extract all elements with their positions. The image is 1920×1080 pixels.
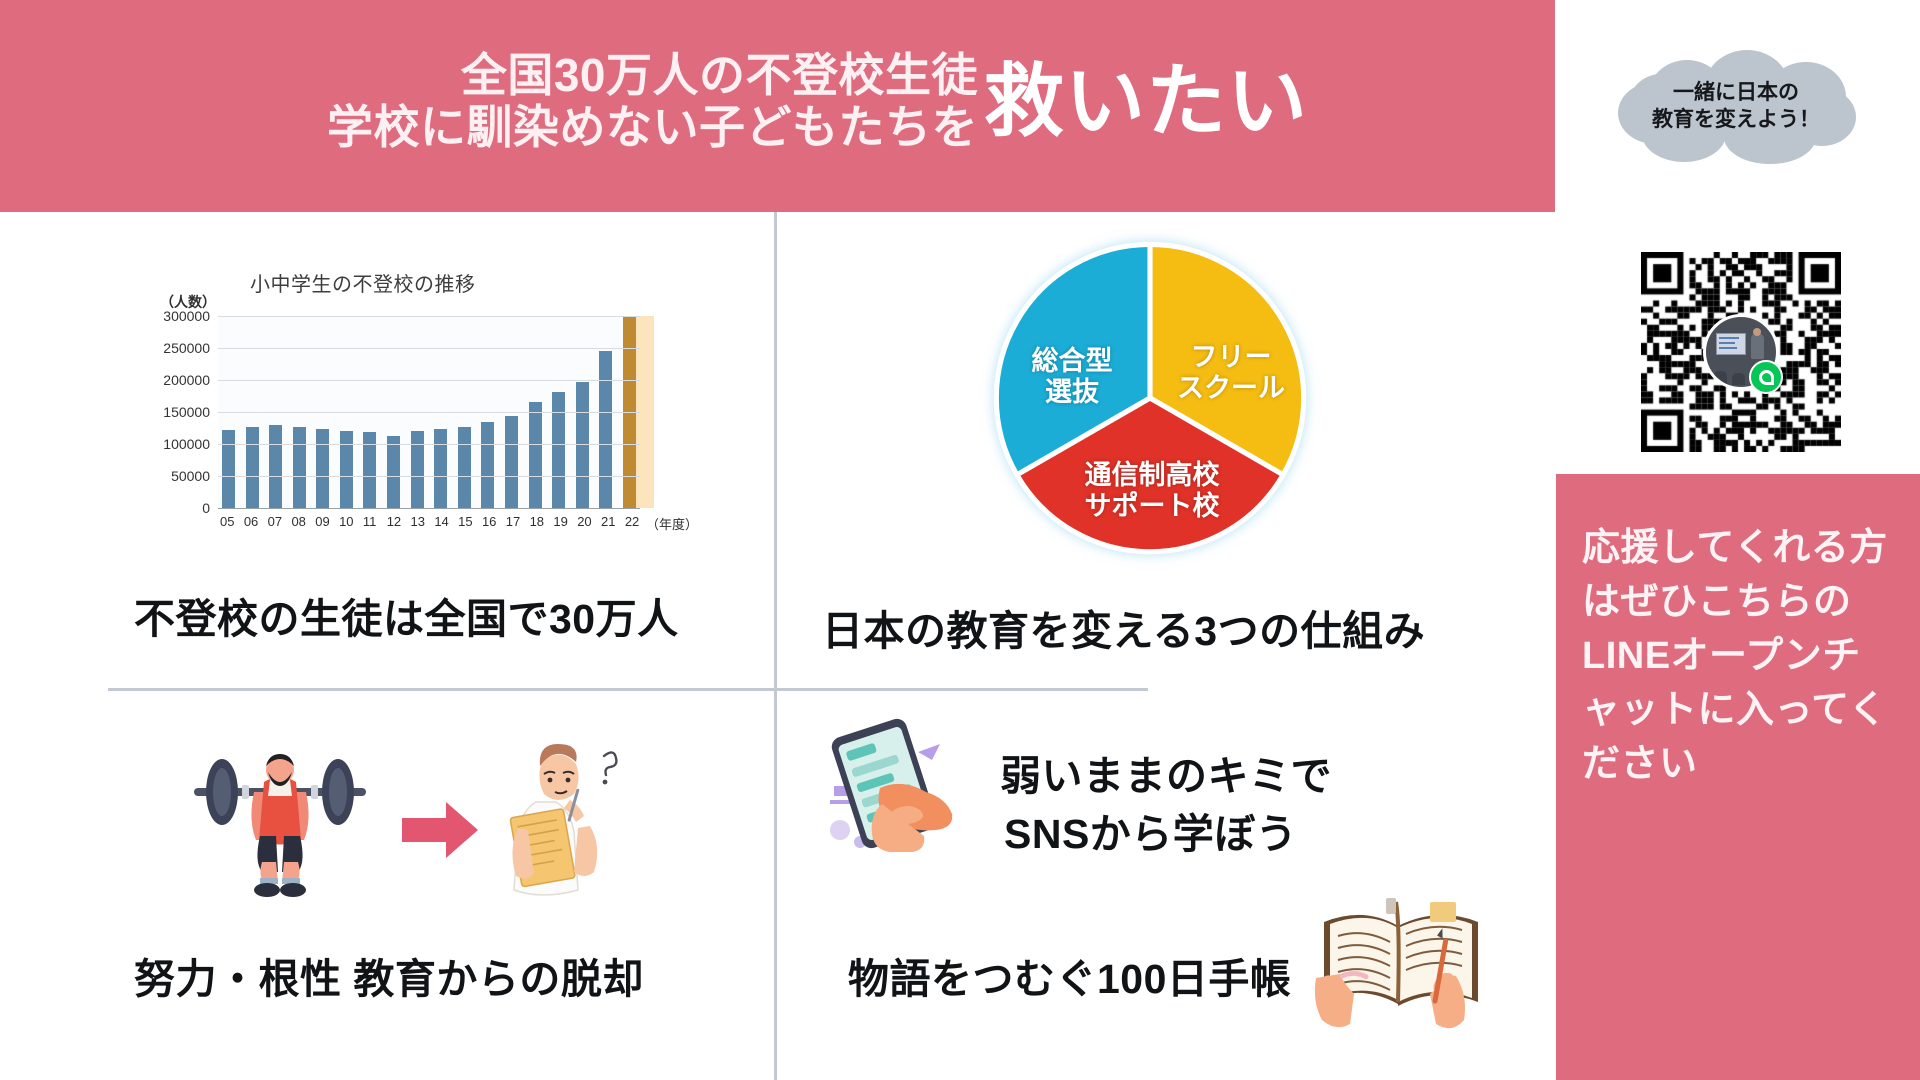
chart-x-axis [218,508,640,509]
chart-y-tick: 150000 [163,404,210,420]
chart-bar [505,416,518,508]
chart-bar [599,351,612,508]
chart-x-tick: 07 [268,514,281,529]
chart-x-unit: （年度） [646,514,698,533]
chart-gridline [218,412,640,413]
caption-sns-line-1: 弱いままのキミで [1000,742,1332,802]
chart-x-tick: 19 [553,514,566,529]
caption-three-systems: 日本の教育を変える3つの仕組み [822,597,1425,657]
chart-y-tick: 0 [202,500,210,516]
chart-x-tick: 13 [411,514,424,529]
chart-bar [458,427,471,508]
chart-x-tick: 20 [577,514,590,529]
line-invite-sidebar: 応援してくれる方はぜひこちらのLINEオープンチャットに入ってください [1556,474,1920,1080]
cloud-callout: 一緒に日本の 教育を変えよう！ [1612,48,1860,166]
line-qr-code[interactable] [1641,252,1841,452]
chart-x-tick: 11 [363,514,376,529]
chart-y-tick: 200000 [163,372,210,388]
pie-label-correspondence: 通信制高校サポート校 [1052,460,1252,522]
header-line-2: 学校に馴染めない子どもたちを [327,102,978,154]
chart-bar [246,427,259,508]
chart-bar [316,429,329,508]
pie-label-comprehensive: 総合型選抜 [1012,346,1132,408]
header-text-block: 全国30万人の不登校生徒 学校に馴染めない子どもたちを [327,50,978,153]
chart-bar [552,392,565,508]
cloud-line-2: 教育を変えよう！ [1652,107,1820,134]
weightlifter-illustration [180,740,380,900]
chart-y-tick: 50000 [171,468,210,484]
chart-x-tick: 12 [387,514,400,529]
chart-x-tick: 10 [339,514,352,529]
chart-y-tick: 100000 [163,436,210,452]
chart-bar [293,427,306,508]
chart-title: 小中学生の不登校の推移 [250,268,476,297]
chart-bar [340,431,353,508]
chart-x-tick: 09 [315,514,328,529]
line-logo-badge [1749,360,1783,394]
chart-gridline [218,444,640,445]
cloud-line-1: 一緒に日本の [1673,80,1799,107]
sidebar-text: 応援してくれる方はぜひこちらのLINEオープンチャットに入ってください [1582,522,1894,792]
chart-x-tick: 16 [482,514,495,529]
chart-plot-area: 050000100000150000200000250000300000 [218,316,640,508]
horizontal-divider [108,688,1148,691]
caption-sns-line-2: SNSから学ぼう [1004,800,1297,860]
chart-gridline [218,316,640,317]
pie-label-freeschool: フリースクール [1166,342,1296,404]
smartphone-sns-illustration [822,718,982,858]
chart-y-tick: 250000 [163,340,210,356]
header-line-1: 全国30万人の不登校生徒 [461,50,978,102]
caption-truancy: 不登校の生徒は全国で30万人 [134,585,679,645]
chart-x-tick: 14 [434,514,447,529]
chart-gridline [218,348,640,349]
thinking-person-illustration [500,740,630,905]
header-emphasis: 救いたい [984,62,1308,142]
chart-bar [269,425,282,508]
chart-bar [222,430,235,508]
chart-bar [529,402,542,508]
chart-x-tick: 06 [244,514,257,529]
chart-x-tick: 21 [601,514,614,529]
chart-bar [434,429,447,508]
chart-x-tick: 18 [530,514,543,529]
chart-x-tick: 15 [458,514,471,529]
chart-x-tick-labels: 050607080910111213141516171819202122 [218,514,640,529]
three-systems-pie-chart: 総合型選抜 フリースクール 通信制高校サポート校 [990,238,1310,558]
chart-bar [411,431,424,508]
chart-y-tick: 300000 [163,308,210,324]
chart-x-tick: 05 [220,514,233,529]
chart-bar [387,436,400,508]
chart-x-tick: 22 [625,514,638,529]
caption-effort-escape: 努力・根性 教育からの脱却 [134,945,644,1005]
truancy-bar-chart: 小中学生の不登校の推移 （人数） 05000010000015000020000… [140,268,700,558]
chart-gridline [218,380,640,381]
chart-bar [481,422,494,508]
chart-gridline [218,476,640,477]
chart-x-tick: 17 [506,514,519,529]
open-notebook-illustration [1306,880,1496,1045]
header-band: 全国30万人の不登校生徒 学校に馴染めない子どもたちを 救いたい [0,0,1555,212]
chart-x-tick: 08 [291,514,304,529]
vertical-divider [774,212,777,1080]
caption-notebook: 物語をつむぐ100日手帳 [848,945,1291,1005]
right-arrow-icon [400,800,480,860]
